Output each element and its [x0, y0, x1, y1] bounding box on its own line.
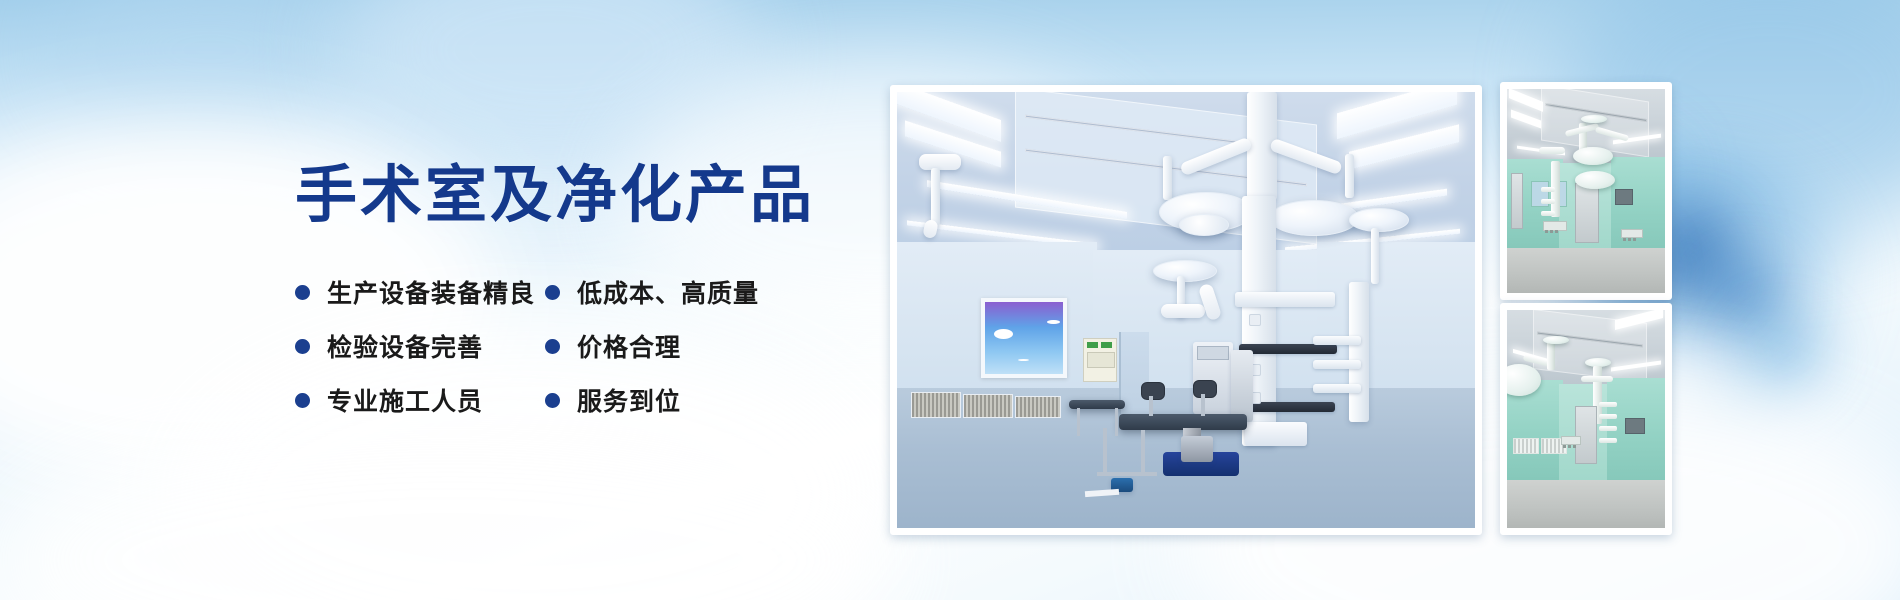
ceiling-disc [1581, 115, 1607, 123]
wall-monitor [1625, 418, 1645, 434]
surgical-scope-head [1193, 380, 1217, 398]
feature-label: 生产设备装备精良 [327, 274, 535, 310]
pendant-side-column [1349, 282, 1369, 422]
ceiling-pendant-arm [931, 168, 940, 226]
scope-post [1149, 396, 1153, 416]
surgical-lamp-head [1269, 200, 1359, 236]
pendant-side-rail [1313, 384, 1361, 393]
pendant-drop-arm [1371, 228, 1379, 284]
surgical-scope-head [1141, 382, 1165, 400]
operating-room-main-photo [890, 85, 1482, 535]
feature-item-2: 低成本、高质量 [545, 265, 795, 319]
feature-item-3: 检验设备完善 [295, 319, 545, 373]
pendant-side-rail [1313, 336, 1361, 345]
feature-label: 检验设备完善 [327, 328, 483, 364]
wall-outlet [1543, 221, 1567, 231]
scope-post [1201, 394, 1205, 416]
feature-label: 价格合理 [577, 328, 681, 364]
surgical-lamp-reflector [1179, 214, 1229, 236]
dot-bullet-icon [545, 339, 560, 354]
door [1119, 332, 1149, 424]
pendant-shelf [1235, 292, 1335, 307]
ceiling-disc [1153, 260, 1217, 282]
photo-content [897, 92, 1475, 528]
pendant-arm [1581, 376, 1613, 382]
operating-room-thumb-bottom [1500, 303, 1672, 535]
ceiling-pendant-head [919, 154, 961, 170]
door [1575, 183, 1599, 243]
pendant-shelf [1599, 402, 1617, 407]
dot-bullet-icon [545, 285, 560, 300]
feature-item-6: 服务到位 [545, 373, 795, 427]
supply-cabinet [1231, 350, 1253, 422]
floor [1507, 248, 1665, 293]
table-frame-bar [1097, 472, 1157, 476]
surgical-light-link [1163, 156, 1172, 200]
panel-display [1087, 342, 1098, 348]
surgical-light-link [1345, 154, 1354, 198]
anesthesia-display [1197, 346, 1229, 360]
surgical-lamp-head [1575, 171, 1615, 189]
dot-bullet-icon [545, 393, 560, 408]
operating-table-pedestal [1181, 436, 1213, 462]
pendant-shelf [1541, 187, 1555, 192]
return-air-vent [1015, 396, 1061, 418]
dot-bullet-icon [295, 285, 310, 300]
page-title: 手术室及净化产品 [295, 160, 855, 231]
return-air-vent [1513, 438, 1539, 454]
door [1575, 406, 1597, 464]
pendant-shelf [1599, 414, 1617, 419]
wall-outlet [1561, 436, 1581, 445]
pendant-outlet [1249, 314, 1261, 326]
pendant-shelf [1599, 438, 1617, 443]
pendant-shelf [1541, 211, 1555, 216]
dot-bullet-icon [295, 339, 310, 354]
pendant-head [1161, 304, 1205, 318]
panel-display [1101, 342, 1112, 348]
feature-item-1: 生产设备装备精良 [295, 265, 545, 319]
sky-wall-poster [981, 298, 1067, 378]
ceiling-disc [1543, 336, 1569, 344]
feature-item-5: 专业施工人员 [295, 373, 545, 427]
floor [1507, 480, 1665, 528]
operating-room-thumb-top [1500, 82, 1672, 300]
trolley-leg [1077, 408, 1080, 436]
wall-outlet [1621, 229, 1643, 238]
trolley-leg [1115, 408, 1118, 436]
panel-buttons [1087, 352, 1115, 368]
feature-label: 专业施工人员 [327, 382, 483, 418]
photo-content [1507, 89, 1665, 293]
surgical-light-mast [1547, 340, 1555, 370]
table-frame-leg [1103, 428, 1107, 476]
ceiling-disc [1349, 208, 1409, 232]
dot-bullet-icon [295, 393, 310, 408]
pendant-side-rail [1313, 360, 1361, 369]
pendant-drawer [1245, 422, 1307, 446]
pendant-shelf [1599, 426, 1617, 431]
feature-label: 低成本、高质量 [577, 274, 759, 310]
return-air-vent [911, 392, 961, 418]
promo-banner: 手术室及净化产品 生产设备装备精良 低成本、高质量 检验设备完善 价格合理 专业… [0, 0, 1900, 600]
feature-list: 生产设备装备精良 低成本、高质量 检验设备完善 价格合理 专业施工人员 服务到位 [295, 265, 855, 427]
photo-content [1507, 310, 1665, 528]
feature-label: 服务到位 [577, 382, 681, 418]
door [1511, 173, 1523, 229]
table-frame-leg [1141, 430, 1145, 474]
wall-monitor [1615, 189, 1633, 205]
feature-item-4: 价格合理 [545, 319, 795, 373]
pendant-shelf [1541, 199, 1555, 204]
surgical-lamp-head [1573, 147, 1613, 165]
pendant-arm [1539, 147, 1565, 154]
return-air-vent [963, 394, 1013, 418]
pendant-rail [1239, 344, 1337, 354]
banner-copy-block: 手术室及净化产品 生产设备装备精良 低成本、高质量 检验设备完善 价格合理 专业… [295, 160, 855, 427]
